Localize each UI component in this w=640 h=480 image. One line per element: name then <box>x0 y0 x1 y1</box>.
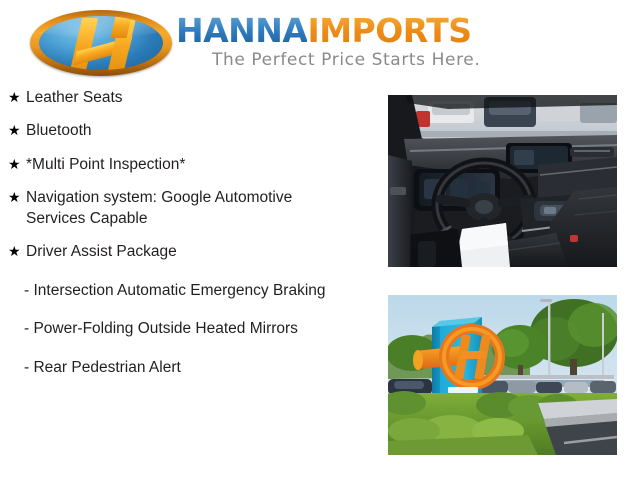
feature-sub-item: - Intersection Automatic Emergency Braki… <box>24 281 380 301</box>
logo-wordmark: HANNAIMPORTS <box>176 14 472 47</box>
logo-tagline: The Perfect Price Starts Here. <box>212 50 480 70</box>
dealership-sign-photo-graphic <box>388 295 617 455</box>
feature-item-label: *Multi Point Inspection* <box>26 156 185 173</box>
vehicle-interior-photo[interactable] <box>388 95 617 267</box>
feature-item: ★ *Multi Point Inspection* <box>0 155 380 175</box>
vehicle-features-list: ★ Leather Seats ★ Bluetooth ★ *Multi Poi… <box>0 88 380 391</box>
logo-wordmark-imports: IMPORTS <box>307 11 471 50</box>
hanna-oval-h-logo-icon <box>30 10 172 76</box>
dealership-sign-photo[interactable] <box>388 295 617 455</box>
feature-sub-item: - Rear Pedestrian Alert <box>24 358 380 378</box>
dealer-logo-header: HANNAIMPORTS The Perfect Price Starts He… <box>0 0 640 86</box>
star-bullet-icon: ★ <box>8 88 21 106</box>
feature-item-label: Driver Assist Package <box>26 243 177 260</box>
feature-item-label: Leather Seats <box>26 89 123 106</box>
feature-item: ★ Driver Assist Package <box>0 242 380 262</box>
feature-item: ★ Navigation system: Google Automotive S… <box>0 188 380 229</box>
vehicle-interior-photo-graphic <box>388 95 617 267</box>
feature-sub-item: - Power-Folding Outside Heated Mirrors <box>24 319 380 339</box>
feature-item-label: Bluetooth <box>26 122 92 139</box>
star-bullet-icon: ★ <box>8 121 21 139</box>
star-bullet-icon: ★ <box>8 155 21 173</box>
star-bullet-icon: ★ <box>8 242 21 260</box>
logo-wordmark-hanna: HANNA <box>176 11 307 50</box>
feature-item-label: Navigation system: Google Automotive Ser… <box>26 189 292 226</box>
feature-item: ★ Leather Seats <box>0 88 380 108</box>
star-bullet-icon: ★ <box>8 188 21 206</box>
feature-item: ★ Bluetooth <box>0 121 380 141</box>
logo-oval-field <box>39 16 163 70</box>
